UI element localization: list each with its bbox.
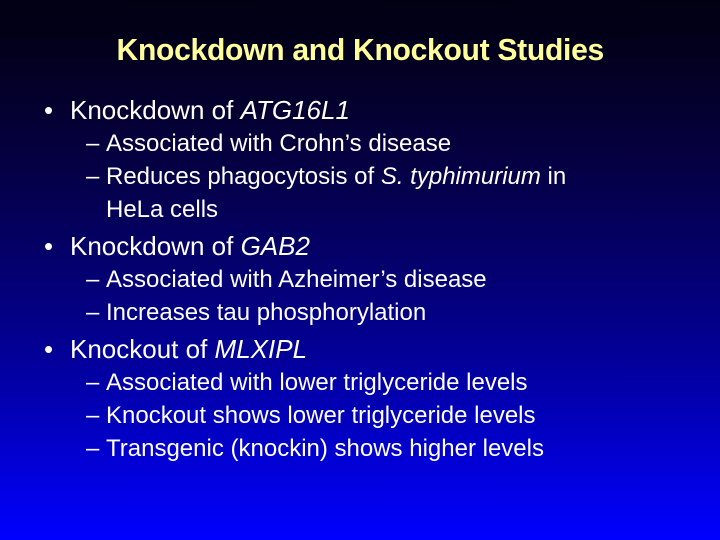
bullet-text: Knockout of (70, 334, 215, 364)
bullet-emphasis-term: ATG16L1 (241, 95, 350, 125)
bullet-item-level2: –Transgenic (knockin) shows higher level… (0, 432, 720, 465)
bullet-dash-icon: – (86, 366, 106, 399)
bullet-text: Reduces phagocytosis of (106, 163, 381, 190)
bullet-dash-icon: – (86, 127, 106, 160)
bullet-text: Transgenic (knockin) shows higher levels (106, 435, 544, 462)
bullet-item-level2: –Associated with lower triglyceride leve… (0, 366, 720, 399)
bullet-item-level2: –Knockout shows lower triglyceride level… (0, 399, 720, 432)
bullet-emphasis-term: GAB2 (241, 231, 310, 261)
bullet-text: Knockdown of (70, 95, 241, 125)
slide-title-block: Knockdown and Knockout Studies (0, 32, 720, 68)
bullet-text: Increases tau phosphorylation (106, 299, 426, 326)
bullet-dash-icon: – (86, 432, 106, 465)
bullet-dash-icon: – (86, 263, 106, 296)
bullet-text: HeLa cells (106, 196, 218, 223)
bullet-text: Associated with Azheimer’s disease (106, 266, 487, 293)
bullet-item-level1: •Knockdown of GAB2 (0, 230, 720, 263)
bullet-dash-icon: – (86, 399, 106, 432)
bullet-text: Knockout shows lower triglyceride levels (106, 402, 536, 429)
bullet-continuation-line: HeLa cells (0, 193, 720, 226)
bullet-item-level2: –Reduces phagocytosis of S. typhimurium … (0, 160, 720, 193)
bullet-dot-icon: • (44, 230, 62, 263)
page-title: Knockdown and Knockout Studies (116, 32, 603, 68)
bullet-text-tail: in (541, 163, 566, 190)
bullet-text: Knockdown of (70, 231, 241, 261)
bullet-text: Associated with Crohn’s disease (106, 130, 451, 157)
bullet-dot-icon: • (44, 333, 62, 366)
bullet-item-level2: –Increases tau phosphorylation (0, 296, 720, 329)
bullet-item-level2: –Associated with Crohn’s disease (0, 127, 720, 160)
bullet-emphasis-term: S. typhimurium (381, 163, 541, 190)
bullet-dash-icon: – (86, 160, 106, 193)
slide-body-content: •Knockdown of ATG16L1–Associated with Cr… (0, 94, 720, 465)
bullet-dash-icon: – (86, 296, 106, 329)
bullet-item-level1: •Knockout of MLXIPL (0, 333, 720, 366)
bullet-item-level1: •Knockdown of ATG16L1 (0, 94, 720, 127)
bullet-emphasis-term: MLXIPL (215, 334, 308, 364)
bullet-dot-icon: • (44, 94, 62, 127)
bullet-text: Associated with lower triglyceride level… (106, 369, 528, 396)
presentation-slide: Knockdown and Knockout Studies •Knockdow… (0, 0, 720, 540)
bullet-item-level2: –Associated with Azheimer’s disease (0, 263, 720, 296)
